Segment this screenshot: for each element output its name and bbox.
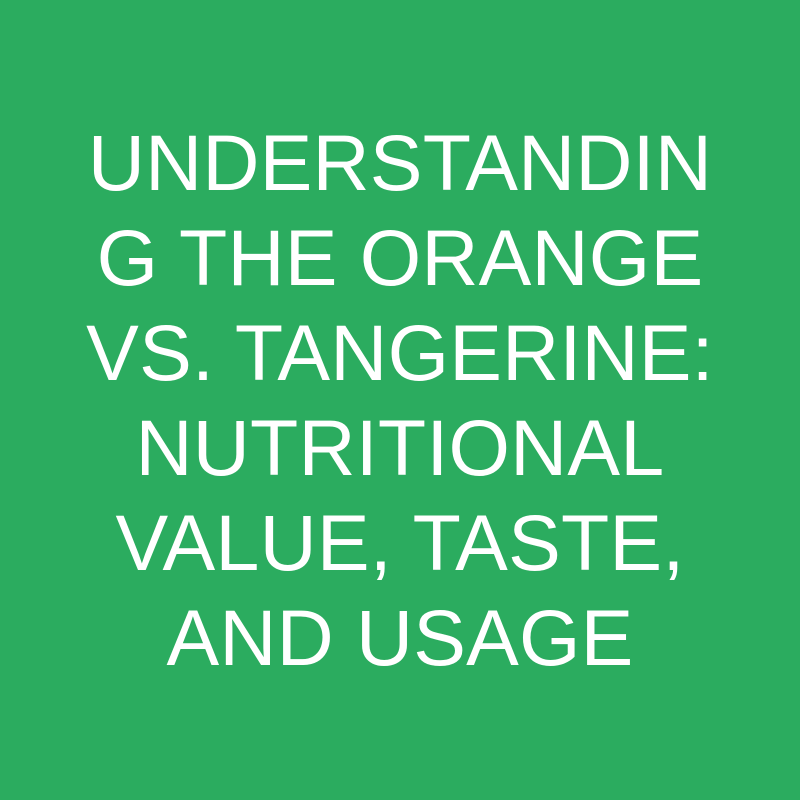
page-title: Understanding the Orange vs. Tangerine: … [70, 115, 730, 685]
title-card: Understanding the Orange vs. Tangerine: … [0, 0, 800, 800]
